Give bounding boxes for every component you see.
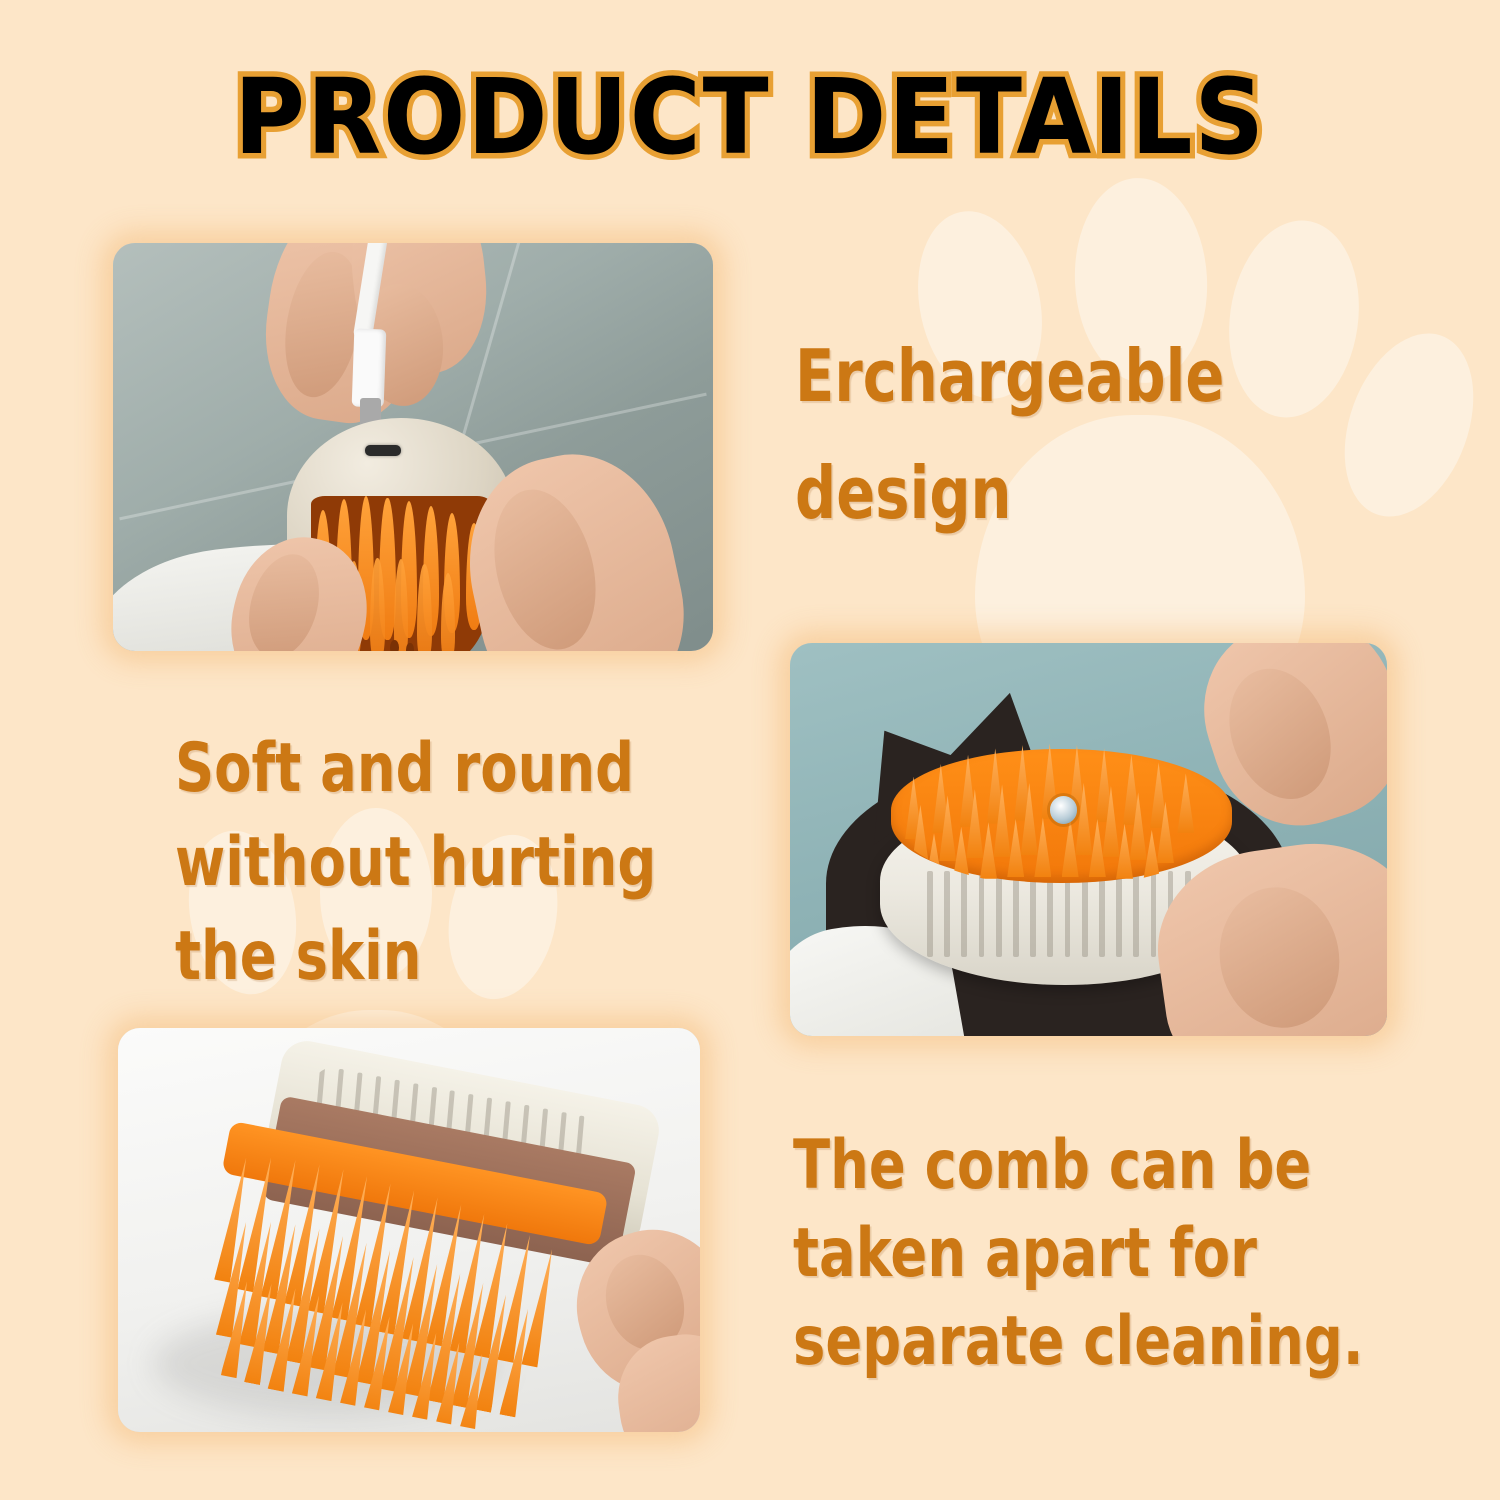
feature-line: The comb can be [793, 1122, 1364, 1210]
feature-line: design [795, 435, 1224, 552]
photo-cat-brush [790, 643, 1387, 1036]
feature-line: taken apart for [793, 1210, 1364, 1298]
feature-line: Erchargeable [795, 318, 1224, 435]
feature-line: the skin [175, 910, 656, 1004]
photo-charging [113, 243, 713, 651]
infographic-canvas: PRODUCT DETAILS [0, 0, 1500, 1500]
steam-nozzle [1050, 796, 1077, 824]
feature-text-detachable: The comb can be taken apart for separate… [793, 1122, 1364, 1386]
feature-line: separate cleaning. [793, 1298, 1364, 1386]
feature-line: Soft and round [175, 722, 656, 816]
feature-line: without hurting [175, 816, 656, 910]
photo-detached [118, 1028, 700, 1432]
feature-text-rechargeable: Erchargeable design [795, 318, 1224, 552]
page-title: PRODUCT DETAILS [53, 62, 1448, 172]
feature-text-soft-round: Soft and round without hurting the skin [175, 722, 656, 1004]
